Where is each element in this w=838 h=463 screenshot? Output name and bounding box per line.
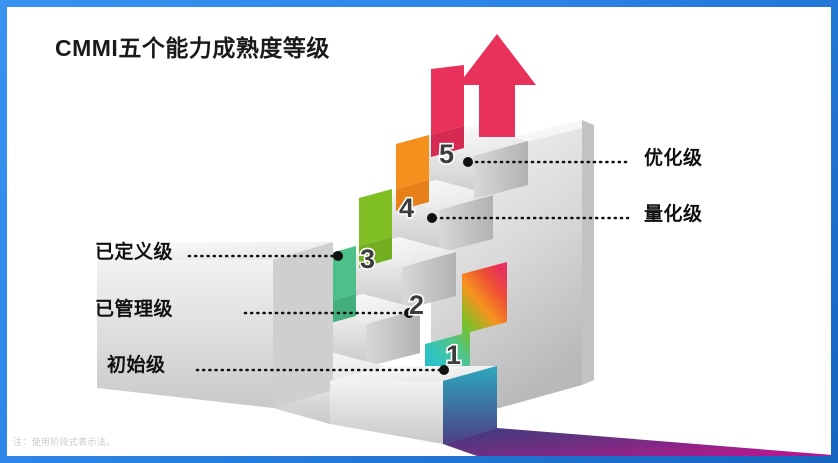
label-level-2: 已管理级: [95, 294, 173, 321]
step-number-4: 4: [399, 195, 414, 222]
step-number-1: 1: [446, 342, 461, 369]
label-level-4: 量化级: [644, 199, 703, 226]
staircase-svg: [7, 7, 831, 456]
label-level-5: 优化级: [644, 143, 703, 170]
leader-dot-3: [333, 251, 343, 261]
step-number-5: 5: [439, 141, 454, 168]
slide-frame: CMMI五个能力成熟度等级: [0, 0, 838, 463]
step-number-3: 3: [360, 246, 375, 273]
step-number-2: 2: [409, 292, 424, 319]
cmmi-staircase-diagram: 1 2 3 4 5 初始级 已管理级 已定义级 量化级 优化级: [7, 7, 831, 456]
up-arrow-icon: [458, 34, 536, 137]
leader-dot-5: [463, 157, 473, 167]
leader-dot-4: [427, 213, 437, 223]
label-level-3: 已定义级: [95, 237, 173, 264]
footer-note: 注：使用阶段式表示法。: [13, 435, 115, 448]
slide-canvas: CMMI五个能力成熟度等级: [7, 7, 831, 456]
base-block: [97, 242, 333, 408]
label-level-1: 初始级: [107, 350, 166, 377]
